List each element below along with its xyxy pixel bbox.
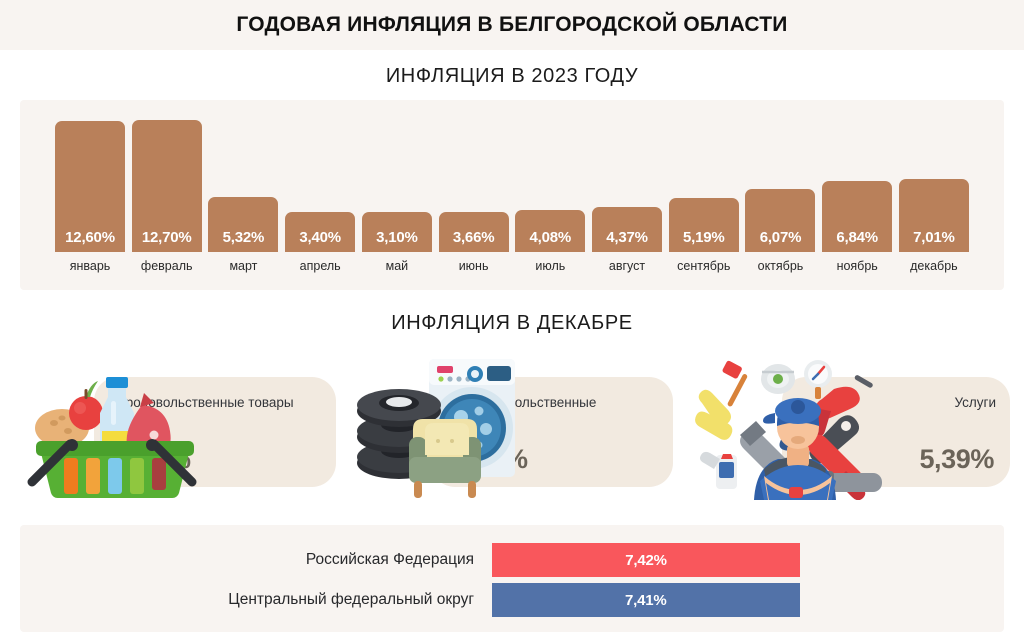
bar-column: 3,66%июнь: [439, 212, 509, 252]
monthly-bar-label: март: [229, 259, 257, 273]
section-heading-december: ИНФЛЯЦИЯ В ДЕКАБРЕ: [0, 312, 1024, 335]
bar-column: 4,37%август: [592, 207, 662, 252]
comparison-value-rf: 7,42%: [625, 552, 667, 569]
page-title: ГОДОВАЯ ИНФЛЯЦИЯ В БЕЛГОРОДСКОЙ ОБЛАСТИ: [236, 13, 787, 37]
monthly-bar: 6,84%: [822, 181, 892, 252]
comparison-label-cfo: Центральный федеральный округ: [20, 591, 492, 609]
monthly-bar: 4,08%: [515, 210, 585, 252]
monthly-bar: 12,60%: [55, 121, 125, 252]
bar-column: 6,84%ноябрь: [822, 181, 892, 252]
monthly-bar-label: май: [386, 259, 409, 273]
bar-column: 5,19%сентябрь: [669, 198, 739, 252]
section-heading-year: ИНФЛЯЦИЯ В 2023 ГОДУ: [0, 65, 1024, 88]
category-card-nonfood: Непродовольственные товары 6,19%: [351, 345, 673, 500]
monthly-bar: 3,10%: [362, 212, 432, 252]
worker-with-tools-icon: [688, 345, 888, 500]
monthly-bar: 4,37%: [592, 207, 662, 252]
monthly-bar-label: октябрь: [758, 259, 804, 273]
bar-column: 12,60%январь: [55, 121, 125, 252]
monthly-bar-value: 3,66%: [453, 229, 495, 252]
monthly-bar-value: 3,10%: [376, 229, 418, 252]
infographic-page: ГОДОВАЯ ИНФЛЯЦИЯ В БЕЛГОРОДСКОЙ ОБЛАСТИ …: [0, 0, 1024, 640]
bar-column: 6,07%октябрь: [745, 189, 815, 252]
monthly-bar-value: 5,32%: [223, 229, 265, 252]
monthly-bar-label: апрель: [300, 259, 341, 273]
monthly-bar-value: 12,60%: [65, 229, 115, 252]
monthly-bar-label: январь: [70, 259, 111, 273]
monthly-bar-label: декабрь: [910, 259, 958, 273]
comparison-row-rf: Российская Федерация 7,42%: [20, 543, 1004, 577]
monthly-bar-label: июнь: [459, 259, 489, 273]
monthly-bar-value: 4,37%: [606, 229, 648, 252]
monthly-bar: 3,40%: [285, 212, 355, 252]
monthly-bar-value: 12,70%: [142, 229, 192, 252]
monthly-bar: 7,01%: [899, 179, 969, 252]
comparison-panel: Российская Федерация 7,42% Центральный ф…: [20, 525, 1004, 632]
comparison-bar-cfo: 7,41%: [492, 583, 800, 617]
comparison-value-cfo: 7,41%: [625, 592, 667, 609]
monthly-bar-value: 6,84%: [836, 229, 878, 252]
monthly-bar-value: 7,01%: [913, 229, 955, 252]
monthly-bar-value: 4,08%: [530, 229, 572, 252]
december-category-cards: Продовольственные товары 8,82%: [14, 345, 1010, 500]
bar-column: 4,08%июль: [515, 210, 585, 252]
monthly-bar: 12,70%: [132, 120, 202, 252]
grocery-basket-icon: [14, 345, 214, 500]
bar-column: 7,01%декабрь: [899, 179, 969, 252]
monthly-bar: 3,66%: [439, 212, 509, 252]
monthly-bars-row: 12,60%январь12,70%февраль5,32%март3,40%а…: [55, 112, 969, 252]
header-band: ГОДОВАЯ ИНФЛЯЦИЯ В БЕЛГОРОДСКОЙ ОБЛАСТИ: [0, 0, 1024, 50]
monthly-bar-label: август: [609, 259, 645, 273]
bar-column: 3,40%апрель: [285, 212, 355, 252]
bar-column: 5,32%март: [208, 197, 278, 252]
monthly-bar-value: 6,07%: [760, 229, 802, 252]
monthly-bar-label: февраль: [141, 259, 193, 273]
monthly-bar-label: ноябрь: [837, 259, 878, 273]
comparison-bar-rf: 7,42%: [492, 543, 800, 577]
monthly-bar-value: 5,19%: [683, 229, 725, 252]
monthly-bar: 5,32%: [208, 197, 278, 252]
comparison-label-rf: Российская Федерация: [20, 551, 492, 569]
monthly-bar-label: сентябрь: [677, 259, 730, 273]
bar-column: 3,10%май: [362, 212, 432, 252]
category-value-services: 5,39%: [919, 444, 994, 475]
monthly-bar-label: июль: [535, 259, 565, 273]
category-card-food: Продовольственные товары 8,82%: [14, 345, 336, 500]
comparison-row-cfo: Центральный федеральный округ 7,41%: [20, 583, 1004, 617]
tires-washer-armchair-icon: [351, 345, 551, 500]
monthly-bar-value: 3,40%: [299, 229, 341, 252]
monthly-bar: 6,07%: [745, 189, 815, 252]
monthly-bar: 5,19%: [669, 198, 739, 252]
category-card-services: Услуги 5,39%: [688, 345, 1010, 500]
monthly-inflation-panel: 12,60%январь12,70%февраль5,32%март3,40%а…: [20, 100, 1004, 290]
bar-column: 12,70%февраль: [132, 120, 202, 252]
